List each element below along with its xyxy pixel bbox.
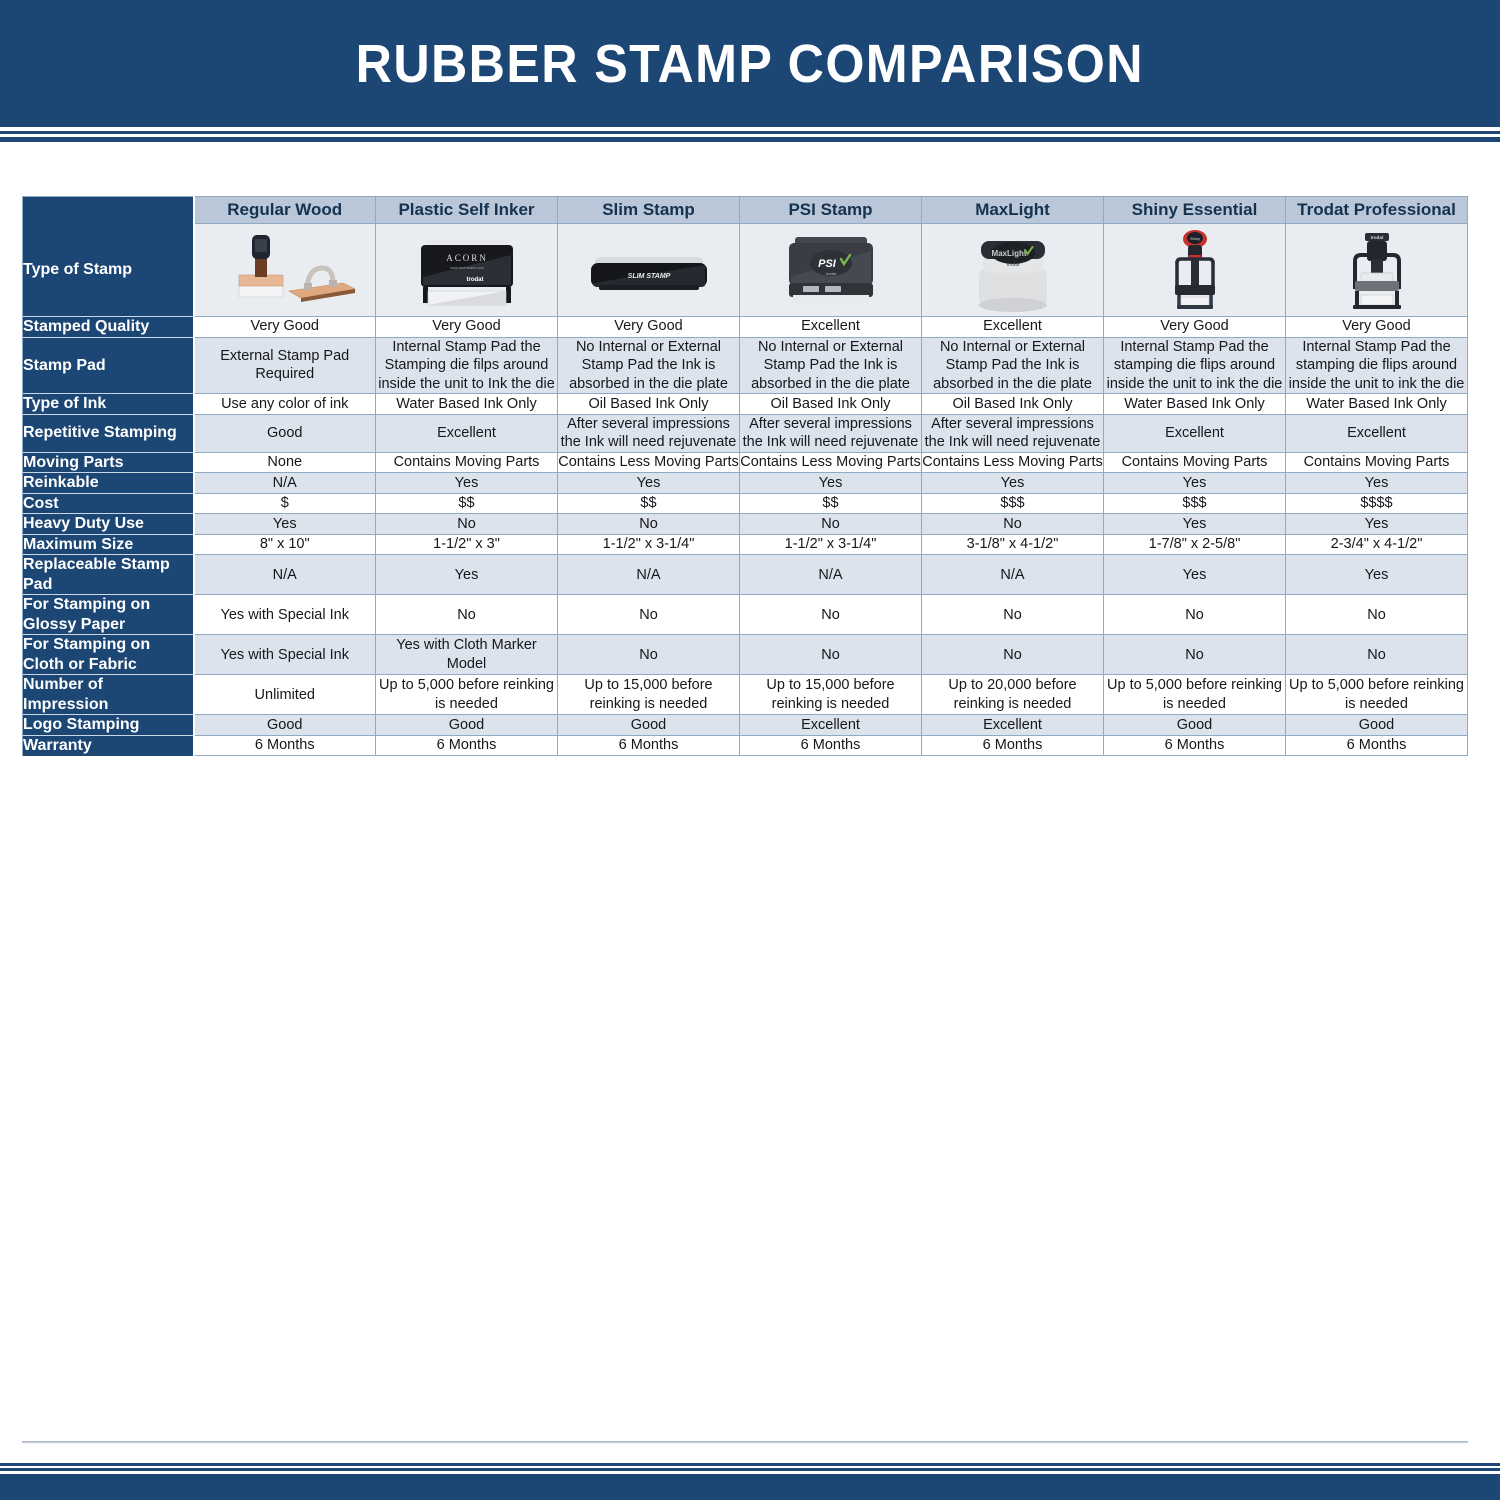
row-label-cost: Cost xyxy=(23,493,194,514)
table-cell: Excellent xyxy=(922,715,1104,736)
row-label-text: Logo Stamping xyxy=(23,716,139,733)
cell-value: N/A xyxy=(273,567,297,583)
column-header-label: PSI Stamp xyxy=(788,200,872,219)
cell-value: No xyxy=(1367,647,1386,663)
column-header-psi-stamp: PSI Stamp xyxy=(740,197,922,224)
cell-value: Excellent xyxy=(437,425,496,441)
table-cell: Very Good xyxy=(194,317,376,338)
table-cell: 6 Months xyxy=(1286,735,1468,755)
header-divider-top xyxy=(0,131,1500,134)
table-cell: Excellent xyxy=(376,414,558,452)
table-cell: Water Based Ink Only xyxy=(376,394,558,415)
table-cell: Unlimited xyxy=(194,675,376,715)
column-header-slim-stamp: Slim Stamp xyxy=(558,197,740,224)
cell-value: 6 Months xyxy=(255,737,315,753)
cell-value: 6 Months xyxy=(1347,737,1407,753)
cell-value: Up to 15,000 before reinking is needed xyxy=(584,677,712,712)
psi-stamp-icon: PSI trodat xyxy=(740,224,921,316)
cell-value: Good xyxy=(1177,717,1212,733)
cell-value: N/A xyxy=(1000,567,1024,583)
table-cell: Up to 5,000 before reinking is needed xyxy=(376,675,558,715)
cell-value: Excellent xyxy=(801,318,860,334)
row-label-text: For Stamping on Cloth or Fabric xyxy=(23,636,150,673)
table-cell: No xyxy=(922,595,1104,635)
cell-value: $$ xyxy=(822,495,838,511)
cell-value: Yes xyxy=(1001,475,1025,491)
cell-value: Very Good xyxy=(1160,318,1229,334)
cell-value: Yes xyxy=(1365,475,1389,491)
table-cell: No xyxy=(1104,635,1286,675)
table-cell: Yes xyxy=(558,473,740,494)
cell-value: Excellent xyxy=(1165,425,1224,441)
table-cell: 6 Months xyxy=(558,735,740,755)
cell-value: Use any color of ink xyxy=(221,396,348,412)
table-cell: Yes with Special Ink xyxy=(194,595,376,635)
cell-value: Very Good xyxy=(1342,318,1411,334)
table-cell: No xyxy=(740,635,922,675)
cell-value: Contains Moving Parts xyxy=(1122,454,1268,470)
table-cell: Good xyxy=(1104,715,1286,736)
table-cell: Good xyxy=(1286,715,1468,736)
table-row: Moving PartsNoneContains Moving PartsCon… xyxy=(23,452,1468,473)
cell-value: Very Good xyxy=(432,318,501,334)
table-cell: Yes xyxy=(1286,514,1468,535)
cell-value: Very Good xyxy=(250,318,319,334)
cell-value: No xyxy=(457,516,476,532)
table-cell: No xyxy=(376,595,558,635)
row-label-text: Reinkable xyxy=(23,474,99,491)
table-cell: Yes xyxy=(376,473,558,494)
cell-value: Yes xyxy=(455,475,479,491)
table-cell: Very Good xyxy=(376,317,558,338)
cell-value: No xyxy=(821,516,840,532)
table-cell: No xyxy=(1286,635,1468,675)
table-cell: N/A xyxy=(194,473,376,494)
table-cell: No xyxy=(558,514,740,535)
table-row: For Stamping on Cloth or FabricYes with … xyxy=(23,635,1468,675)
table-cell: Internal Stamp Pad the Stamping die filp… xyxy=(376,337,558,394)
table-cell: Yes xyxy=(922,473,1104,494)
cell-value: Up to 5,000 before reinking is needed xyxy=(1289,677,1464,712)
cell-value: 3-1/8" x 4-1/2" xyxy=(967,536,1059,552)
table-cell: $$ xyxy=(376,493,558,514)
table-cell: Very Good xyxy=(1286,317,1468,338)
column-header-shiny-essential: Shiny Essential xyxy=(1104,197,1286,224)
header-banner: RUBBER STAMP COMPARISON xyxy=(0,0,1500,127)
cell-value: No xyxy=(821,607,840,623)
cell-value: Excellent xyxy=(1347,425,1406,441)
table-cell: 6 Months xyxy=(1104,735,1286,755)
cell-value: $$$ xyxy=(1182,495,1206,511)
cell-value: Oil Based Ink Only xyxy=(952,396,1072,412)
column-header-label: Plastic Self Inker xyxy=(398,200,534,219)
stamp-image-cell: PSI trodat xyxy=(740,224,922,317)
table-cell: Oil Based Ink Only xyxy=(558,394,740,415)
table-cell: No xyxy=(558,635,740,675)
row-label-warranty: Warranty xyxy=(23,735,194,755)
svg-text:trodat: trodat xyxy=(1006,262,1019,267)
svg-text:MaxLight: MaxLight xyxy=(991,249,1026,258)
table-cell: $$ xyxy=(558,493,740,514)
cell-value: 6 Months xyxy=(1165,737,1225,753)
table-cell: 1-1/2" x 3-1/4" xyxy=(558,534,740,555)
row-label-type-of-stamp: Type of Stamp xyxy=(23,224,194,317)
column-header-label: Shiny Essential xyxy=(1132,200,1258,219)
cell-value: Contains Moving Parts xyxy=(394,454,540,470)
table-cell: Excellent xyxy=(740,715,922,736)
cell-value: N/A xyxy=(273,475,297,491)
row-label-repetitive-stamping: Repetitive Stamping xyxy=(23,414,194,452)
cell-value: No xyxy=(821,647,840,663)
cell-value: Good xyxy=(267,425,302,441)
table-cell: No Internal or External Stamp Pad the In… xyxy=(740,337,922,394)
stamp-image-cell: MaxLight trodat xyxy=(922,224,1104,317)
table-cell: Internal Stamp Pad the stamping die flip… xyxy=(1104,337,1286,394)
column-header-maxlight: MaxLight xyxy=(922,197,1104,224)
table-cell: N/A xyxy=(740,555,922,595)
trodat-professional-stamp-icon: trodat xyxy=(1286,224,1467,316)
table-cell: $$ xyxy=(740,493,922,514)
table-cell: Up to 5,000 before reinking is needed xyxy=(1104,675,1286,715)
row-label-text: Replaceable Stamp Pad xyxy=(23,556,170,593)
table-cell: Contains Less Moving Parts xyxy=(922,452,1104,473)
row-label-text: Heavy Duty Use xyxy=(23,515,144,532)
table-cell: N/A xyxy=(558,555,740,595)
table-cell: 1-1/2" x 3" xyxy=(376,534,558,555)
table-cell: Good xyxy=(194,414,376,452)
table-row: Stamp PadExternal Stamp Pad RequiredInte… xyxy=(23,337,1468,394)
row-label-text: Type of Stamp xyxy=(23,261,132,278)
table-row: Cost$$$$$$$$$$$$$$$$$ xyxy=(23,493,1468,514)
cell-value: Internal Stamp Pad the Stamping die filp… xyxy=(378,339,555,392)
row-label-for-stamping-on-glossy-paper: For Stamping on Glossy Paper xyxy=(23,595,194,635)
stamp-image-cell xyxy=(194,224,376,317)
table-cell: Very Good xyxy=(558,317,740,338)
table-cell: Water Based Ink Only xyxy=(1286,394,1468,415)
cell-value: Good xyxy=(267,717,302,733)
table-corner-cell xyxy=(23,197,194,224)
cell-value: Unlimited xyxy=(255,687,315,703)
cell-value: $$ xyxy=(640,495,656,511)
cell-value: Contains Less Moving Parts xyxy=(558,454,739,470)
stamp-image-cell: Shiny xyxy=(1104,224,1286,317)
cell-value: No Internal or External Stamp Pad the In… xyxy=(569,339,728,392)
table-cell: Yes with Special Ink xyxy=(194,635,376,675)
table-cell: 1-1/2" x 3-1/4" xyxy=(740,534,922,555)
table-cell: Yes xyxy=(1286,555,1468,595)
table-cell: No xyxy=(1286,595,1468,635)
footer-banner xyxy=(0,1474,1500,1500)
cell-value: N/A xyxy=(818,567,842,583)
table-cell: No Internal or External Stamp Pad the In… xyxy=(922,337,1104,394)
table-cell: Contains Moving Parts xyxy=(376,452,558,473)
footer-divider-top xyxy=(0,1463,1500,1466)
table-cell: 6 Months xyxy=(740,735,922,755)
row-label-text: Type of Ink xyxy=(23,395,106,412)
table-cell: No xyxy=(922,635,1104,675)
table-cell: Yes xyxy=(740,473,922,494)
table-cell: Yes xyxy=(194,514,376,535)
row-label-stamp-pad: Stamp Pad xyxy=(23,337,194,394)
table-cell: Yes xyxy=(1286,473,1468,494)
page-title: RUBBER STAMP COMPARISON xyxy=(356,33,1144,95)
table-cell: N/A xyxy=(194,555,376,595)
table-cell: Use any color of ink xyxy=(194,394,376,415)
cell-value: Up to 15,000 before reinking is needed xyxy=(766,677,894,712)
cell-value: Contains Moving Parts xyxy=(1304,454,1450,470)
row-label-text: Warranty xyxy=(23,737,92,754)
cell-value: Yes xyxy=(637,475,661,491)
cell-value: Oil Based Ink Only xyxy=(588,396,708,412)
cell-value: Oil Based Ink Only xyxy=(770,396,890,412)
cell-value: No xyxy=(1003,647,1022,663)
cell-value: $$$ xyxy=(1000,495,1024,511)
table-cell: Up to 15,000 before reinking is needed xyxy=(558,675,740,715)
cell-value: Very Good xyxy=(614,318,683,334)
row-label-text: Cost xyxy=(23,495,59,512)
cell-value: None xyxy=(267,454,302,470)
footer-divider-bottom xyxy=(0,1468,1500,1471)
column-header-trodat-professional: Trodat Professional xyxy=(1286,197,1468,224)
cell-value: 8" x 10" xyxy=(260,536,310,552)
cell-value: 1-1/2" x 3-1/4" xyxy=(785,536,877,552)
table-cell: Internal Stamp Pad the stamping die flip… xyxy=(1286,337,1468,394)
row-label-maximum-size: Maximum Size xyxy=(23,534,194,555)
svg-text:trodat: trodat xyxy=(1370,235,1383,240)
cell-value: Internal Stamp Pad the stamping die flip… xyxy=(1107,339,1283,392)
row-label-text: Stamped Quality xyxy=(23,318,149,335)
table-cell: $$$ xyxy=(1104,493,1286,514)
row-label-moving-parts: Moving Parts xyxy=(23,452,194,473)
table-header-row: Regular WoodPlastic Self InkerSlim Stamp… xyxy=(23,197,1468,224)
table-cell: No xyxy=(740,514,922,535)
row-label-stamped-quality: Stamped Quality xyxy=(23,317,194,338)
cell-value: Excellent xyxy=(801,717,860,733)
row-label-number-of-impression: Number of Impression xyxy=(23,675,194,715)
table-cell: 1-7/8" x 2-5/8" xyxy=(1104,534,1286,555)
cell-value: No Internal or External Stamp Pad the In… xyxy=(751,339,910,392)
cell-value: 1-7/8" x 2-5/8" xyxy=(1149,536,1241,552)
cell-value: 6 Months xyxy=(437,737,497,753)
maxlight-round-stamp-icon: MaxLight trodat xyxy=(922,224,1103,316)
table-row: Logo StampingGoodGoodGoodExcellentExcell… xyxy=(23,715,1468,736)
cell-value: 6 Months xyxy=(619,737,679,753)
shiny-essential-stamp-icon: Shiny xyxy=(1104,224,1285,316)
row-label-reinkable: Reinkable xyxy=(23,473,194,494)
cell-value: Good xyxy=(449,717,484,733)
table-cell: Excellent xyxy=(922,317,1104,338)
cell-value: Yes xyxy=(455,567,479,583)
cell-value: Yes xyxy=(1183,567,1207,583)
table-cell: No Internal or External Stamp Pad the In… xyxy=(558,337,740,394)
svg-text:trodat: trodat xyxy=(466,277,483,283)
table-cell: None xyxy=(194,452,376,473)
cell-value: Good xyxy=(1359,717,1394,733)
cell-value: Up to 20,000 before reinking is needed xyxy=(948,677,1076,712)
table-cell: Yes with Cloth Marker Model xyxy=(376,635,558,675)
column-header-label: Trodat Professional xyxy=(1297,200,1456,219)
cell-value: Yes with Special Ink xyxy=(221,607,349,623)
column-header-regular-wood: Regular Wood xyxy=(194,197,376,224)
table-cell: 6 Months xyxy=(194,735,376,755)
table-cell: N/A xyxy=(922,555,1104,595)
slim-stamp-icon: SLIM STAMP xyxy=(558,224,739,316)
stamp-image-cell: ACORN www.acornsales.com trodat xyxy=(376,224,558,317)
table-cell: Excellent xyxy=(1286,414,1468,452)
table-row: Type of InkUse any color of inkWater Bas… xyxy=(23,394,1468,415)
table-cell: Yes xyxy=(376,555,558,595)
stamp-image-cell: SLIM STAMP xyxy=(558,224,740,317)
table-cell: Excellent xyxy=(740,317,922,338)
cell-value: Internal Stamp Pad the stamping die flip… xyxy=(1289,339,1465,392)
cell-value: Yes xyxy=(1365,516,1389,532)
row-label-replaceable-stamp-pad: Replaceable Stamp Pad xyxy=(23,555,194,595)
cell-value: No xyxy=(457,607,476,623)
cell-value: Water Based Ink Only xyxy=(1306,396,1447,412)
row-label-text: For Stamping on Glossy Paper xyxy=(23,596,150,633)
table-row: Repetitive StampingGoodExcellentAfter se… xyxy=(23,414,1468,452)
cell-value: Water Based Ink Only xyxy=(396,396,537,412)
table-cell: Good xyxy=(376,715,558,736)
table-cell: Very Good xyxy=(1104,317,1286,338)
cell-value: Contains Less Moving Parts xyxy=(740,454,921,470)
cell-value: No Internal or External Stamp Pad the In… xyxy=(933,339,1092,392)
table-cell: External Stamp Pad Required xyxy=(194,337,376,394)
cell-value: Yes xyxy=(1183,475,1207,491)
table-cell: Good xyxy=(194,715,376,736)
row-label-text: Moving Parts xyxy=(23,454,123,471)
cell-value: 2-3/4" x 4-1/2" xyxy=(1331,536,1423,552)
table-row: Number of ImpressionUnlimitedUp to 5,000… xyxy=(23,675,1468,715)
header-divider-bottom xyxy=(0,137,1500,142)
row-label-heavy-duty-use: Heavy Duty Use xyxy=(23,514,194,535)
table-row: Type of Stamp ACORN www.acornsales.com t… xyxy=(23,224,1468,317)
table-bottom-shadow xyxy=(22,1441,1468,1444)
cell-value: Water Based Ink Only xyxy=(1124,396,1265,412)
table-cell: $ xyxy=(194,493,376,514)
stamp-comparison-table: Regular WoodPlastic Self InkerSlim Stamp… xyxy=(22,196,1468,756)
row-label-text: Repetitive Stamping xyxy=(23,424,177,441)
row-label-for-stamping-on-cloth-or-fabric: For Stamping on Cloth or Fabric xyxy=(23,635,194,675)
cell-value: 6 Months xyxy=(801,737,861,753)
svg-text:trodat: trodat xyxy=(825,271,836,276)
acorn-self-inking-stamp-icon: ACORN www.acornsales.com trodat xyxy=(376,224,557,316)
cell-value: Yes xyxy=(1365,567,1389,583)
table-cell: Up to 5,000 before reinking is needed xyxy=(1286,675,1468,715)
row-label-logo-stamping: Logo Stamping xyxy=(23,715,194,736)
table-cell: No xyxy=(1104,595,1286,635)
table-cell: After several impressions the Ink will n… xyxy=(558,414,740,452)
table-row: Stamped QualityVery GoodVery GoodVery Go… xyxy=(23,317,1468,338)
table-cell: Up to 20,000 before reinking is needed xyxy=(922,675,1104,715)
svg-text:SLIM STAMP: SLIM STAMP xyxy=(627,273,670,280)
cell-value: No xyxy=(639,607,658,623)
cell-value: N/A xyxy=(636,567,660,583)
cell-value: Good xyxy=(631,717,666,733)
wood-handle-stamp-icon xyxy=(195,224,376,316)
cell-value: 1-1/2" x 3-1/4" xyxy=(603,536,695,552)
cell-value: Up to 5,000 before reinking is needed xyxy=(379,677,554,712)
cell-value: Contains Less Moving Parts xyxy=(922,454,1103,470)
table-cell: $$$$ xyxy=(1286,493,1468,514)
column-header-label: MaxLight xyxy=(975,200,1050,219)
table-cell: Contains Less Moving Parts xyxy=(558,452,740,473)
table-cell: 6 Months xyxy=(922,735,1104,755)
table-row: ReinkableN/AYesYesYesYesYesYes xyxy=(23,473,1468,494)
table-row: Maximum Size8" x 10"1-1/2" x 3"1-1/2" x … xyxy=(23,534,1468,555)
svg-text:ACORN: ACORN xyxy=(446,253,488,263)
cell-value: No xyxy=(1367,607,1386,623)
table-row: Warranty6 Months6 Months6 Months6 Months… xyxy=(23,735,1468,755)
table-cell: No xyxy=(558,595,740,635)
table-cell: Oil Based Ink Only xyxy=(740,394,922,415)
row-label-text: Number of Impression xyxy=(23,676,108,713)
cell-value: After several impressions the Ink will n… xyxy=(561,416,737,451)
table-cell: Up to 15,000 before reinking is needed xyxy=(740,675,922,715)
column-header-label: Regular Wood xyxy=(227,200,342,219)
table-cell: 3-1/8" x 4-1/2" xyxy=(922,534,1104,555)
cell-value: No xyxy=(639,516,658,532)
table-cell: After several impressions the Ink will n… xyxy=(740,414,922,452)
table-cell: After several impressions the Ink will n… xyxy=(922,414,1104,452)
table-cell: No xyxy=(922,514,1104,535)
cell-value: Yes with Special Ink xyxy=(221,647,349,663)
row-label-text: Maximum Size xyxy=(23,536,133,553)
cell-value: After several impressions the Ink will n… xyxy=(743,416,919,451)
table-row: Heavy Duty UseYesNoNoNoNoYesYes xyxy=(23,514,1468,535)
row-label-text: Stamp Pad xyxy=(23,357,106,374)
cell-value: Yes xyxy=(1183,516,1207,532)
cell-value: 6 Months xyxy=(983,737,1043,753)
cell-value: After several impressions the Ink will n… xyxy=(925,416,1101,451)
cell-value: No xyxy=(1003,607,1022,623)
cell-value: Excellent xyxy=(983,318,1042,334)
table-cell: Oil Based Ink Only xyxy=(922,394,1104,415)
stamp-image-cell: trodat xyxy=(1286,224,1468,317)
table-cell: Yes xyxy=(1104,555,1286,595)
cell-value: 1-1/2" x 3" xyxy=(433,536,500,552)
cell-value: Yes with Cloth Marker Model xyxy=(396,637,537,672)
table-cell: Contains Less Moving Parts xyxy=(740,452,922,473)
svg-text:www.acornsales.com: www.acornsales.com xyxy=(450,266,484,270)
table-cell: Yes xyxy=(1104,473,1286,494)
table-cell: Yes xyxy=(1104,514,1286,535)
table-cell: Water Based Ink Only xyxy=(1104,394,1286,415)
cell-value: Yes xyxy=(819,475,843,491)
cell-value: Excellent xyxy=(983,717,1042,733)
cell-value: No xyxy=(1003,516,1022,532)
table-row: For Stamping on Glossy PaperYes with Spe… xyxy=(23,595,1468,635)
svg-text:Shiny: Shiny xyxy=(1189,236,1199,241)
cell-value: $$ xyxy=(458,495,474,511)
table-cell: Excellent xyxy=(1104,414,1286,452)
cell-value: External Stamp Pad Required xyxy=(220,348,349,383)
cell-value: $ xyxy=(281,495,289,511)
table-cell: Good xyxy=(558,715,740,736)
table-cell: Contains Moving Parts xyxy=(1104,452,1286,473)
table-cell: No xyxy=(376,514,558,535)
table-cell: 6 Months xyxy=(376,735,558,755)
cell-value: $$$$ xyxy=(1360,495,1392,511)
table-row: Replaceable Stamp PadN/AYesN/AN/AN/AYesY… xyxy=(23,555,1468,595)
table-cell: $$$ xyxy=(922,493,1104,514)
table-cell: 8" x 10" xyxy=(194,534,376,555)
column-header-plastic-self-inker: Plastic Self Inker xyxy=(376,197,558,224)
cell-value: No xyxy=(1185,647,1204,663)
cell-value: No xyxy=(639,647,658,663)
svg-text:PSI: PSI xyxy=(818,258,837,270)
column-header-label: Slim Stamp xyxy=(602,200,695,219)
